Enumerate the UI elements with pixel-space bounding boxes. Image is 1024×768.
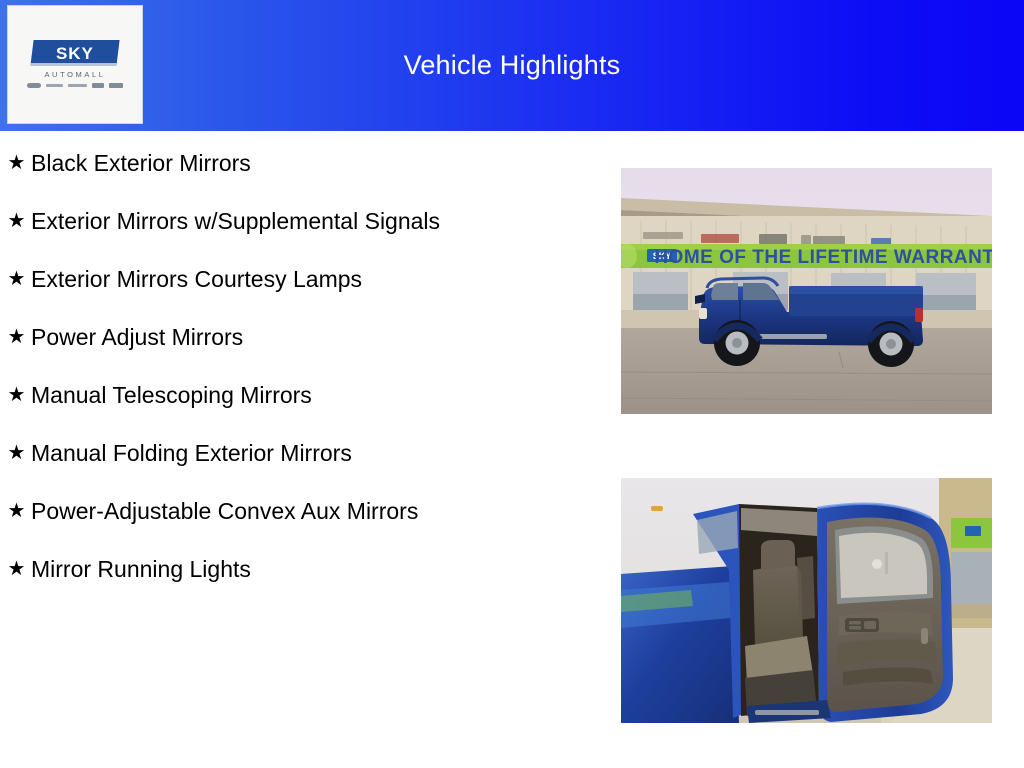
vehicle-interior-photo[interactable] <box>621 478 992 723</box>
oem-brand-strip <box>27 82 123 89</box>
logo-inner: SKY AUTOMALL <box>23 40 127 90</box>
star-bullet-icon: ★ <box>0 437 31 469</box>
star-bullet-icon: ★ <box>0 147 31 179</box>
list-item: ★ Exterior Mirrors w/Supplemental Signal… <box>0 205 600 237</box>
highlight-text: Power Adjust Mirrors <box>31 321 243 353</box>
dealer-logo-card[interactable]: SKY AUTOMALL <box>7 5 143 124</box>
exterior-photo-graphic: SKY HOME OF THE LIFETIME WARRANTY <box>621 168 992 414</box>
sky-logo-text: SKY <box>56 44 94 61</box>
vehicle-exterior-photo[interactable]: SKY HOME OF THE LIFETIME WARRANTY <box>621 168 992 414</box>
page-title: Vehicle Highlights <box>0 0 1024 131</box>
list-item: ★ Power-Adjustable Convex Aux Mirrors <box>0 495 600 527</box>
star-bullet-icon: ★ <box>0 495 31 527</box>
highlight-text: Exterior Mirrors Courtesy Lamps <box>31 263 362 295</box>
highlight-text: Manual Folding Exterior Mirrors <box>31 437 352 469</box>
highlight-text: Manual Telescoping Mirrors <box>31 379 312 411</box>
fiat-brand-icon <box>109 83 123 88</box>
star-bullet-icon: ★ <box>0 205 31 237</box>
list-item: ★ Manual Telescoping Mirrors <box>0 379 600 411</box>
star-bullet-icon: ★ <box>0 379 31 411</box>
highlight-text: Exterior Mirrors w/Supplemental Signals <box>31 205 440 237</box>
highlight-text: Black Exterior Mirrors <box>31 147 251 179</box>
list-item: ★ Black Exterior Mirrors <box>0 147 600 179</box>
dodge-brand-icon <box>46 84 63 87</box>
star-bullet-icon: ★ <box>0 263 31 295</box>
sky-logo-badge: SKY <box>30 40 119 66</box>
ram-brand-icon <box>92 83 104 88</box>
star-bullet-icon: ★ <box>0 553 31 585</box>
automall-subtitle: AUTOMALL <box>44 71 105 79</box>
vehicle-highlights-list: ★ Black Exterior Mirrors ★ Exterior Mirr… <box>0 147 600 611</box>
highlight-text: Power-Adjustable Convex Aux Mirrors <box>31 495 418 527</box>
list-item: ★ Exterior Mirrors Courtesy Lamps <box>0 263 600 295</box>
svg-text:HOME OF THE LIFETIME WARRANTY: HOME OF THE LIFETIME WARRANTY <box>654 247 992 268</box>
highlight-text: Mirror Running Lights <box>31 553 251 585</box>
list-item: ★ Power Adjust Mirrors <box>0 321 600 353</box>
interior-photo-graphic <box>621 478 992 723</box>
chrysler-brand-icon <box>27 83 41 88</box>
list-item: ★ Manual Folding Exterior Mirrors <box>0 437 600 469</box>
star-bullet-icon: ★ <box>0 321 31 353</box>
jeep-brand-icon <box>68 84 87 87</box>
list-item: ★ Mirror Running Lights <box>0 553 600 585</box>
